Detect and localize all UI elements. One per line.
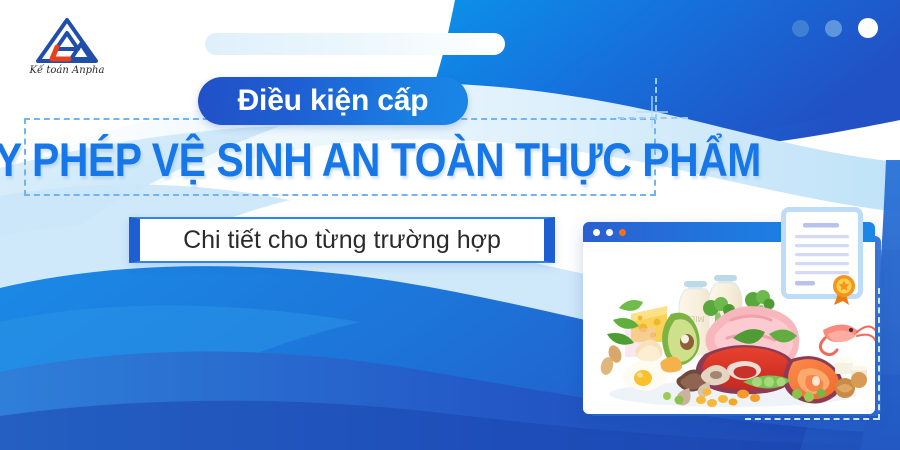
illustration-dash-horizontal (745, 418, 879, 420)
window-dot-2-icon (606, 229, 613, 236)
banner-root: Kế toán Anpha Điều kiện cấp GIẤY PHÉP VỆ… (0, 0, 900, 450)
page-title: GIẤY PHÉP VỆ SINH AN TOÀN THỰC PHẨM (0, 136, 761, 183)
shrimp (820, 324, 875, 354)
almond (599, 343, 624, 376)
pale-accent-bar (205, 33, 505, 55)
window-dot-3-icon (619, 229, 626, 236)
anpha-logo[interactable]: Kế toán Anpha (24, 14, 110, 76)
window-dot-1-icon (593, 229, 600, 236)
decorative-dot-mid (825, 20, 842, 37)
decorative-dot-dim (792, 20, 809, 37)
subtitle-box: Chi tiết cho từng trường hợp (129, 217, 555, 263)
dashed-tick-vertical (655, 78, 657, 120)
headline-wrap: GIẤY PHÉP VỆ SINH AN TOÀN THỰC PHẨM (40, 133, 644, 185)
anpha-triangle-logo-icon (38, 20, 96, 61)
certificate-document (777, 203, 872, 313)
decorative-dot-row (792, 18, 878, 38)
eyebrow-pill: Điều kiện cấp (198, 77, 468, 125)
anpha-wordmark: Kế toán Anpha (29, 65, 105, 76)
eyebrow-label: Điều kiện cấp (238, 86, 429, 116)
subtitle-label: Chi tiết cho từng trường hợp (183, 228, 501, 253)
decorative-dot-bright (858, 18, 878, 38)
dashed-tick-horizontal (618, 117, 688, 119)
illustration-dash-vertical (878, 288, 880, 420)
certificate-seal-icon (833, 275, 855, 305)
